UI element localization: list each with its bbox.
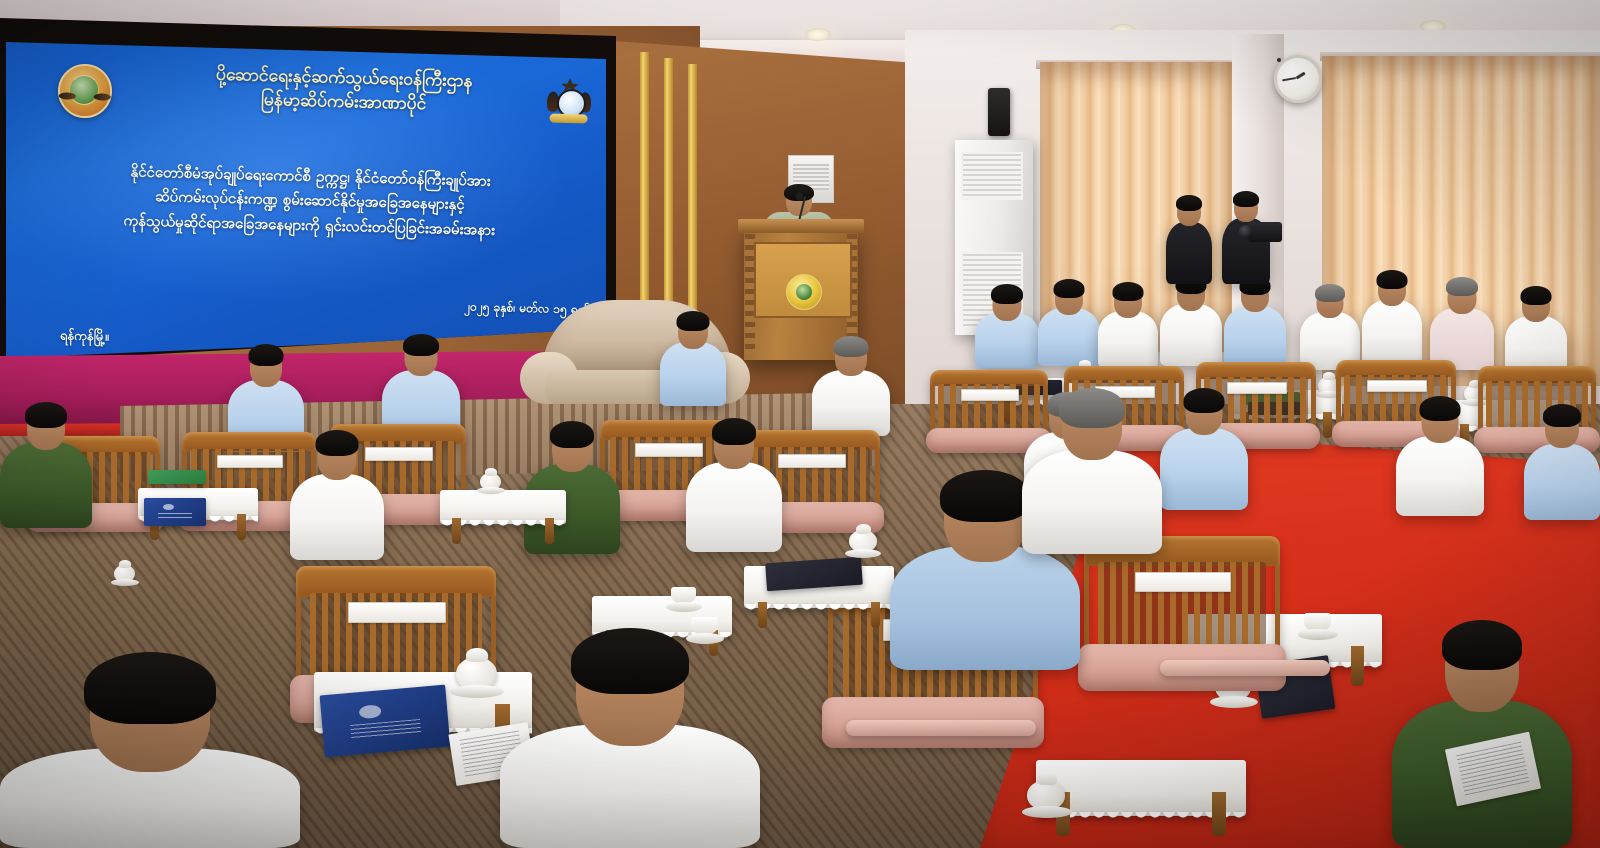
microphone-icon (796, 192, 803, 201)
chair-name-card (778, 454, 846, 468)
teacup-icon (668, 584, 700, 610)
podium-top (738, 219, 864, 233)
chair-name-card (348, 602, 446, 622)
wall-clock-icon (1274, 55, 1322, 103)
wooden-armchair (1084, 536, 1280, 674)
slide-body: နိုင်ငံတော်စီမံအုပ်ချုပ်ရေးကောင်စီ ဥက္ကဋ… (35, 157, 585, 244)
chair-name-card (961, 389, 1020, 401)
clock-minute-hand (1282, 77, 1296, 81)
podium-emblem-icon (786, 274, 822, 310)
seated-attendee (1505, 286, 1567, 376)
podium-front-panel (754, 242, 852, 318)
seated-officer-uniform (524, 420, 620, 554)
chair-armrest (1160, 660, 1330, 676)
seated-attendee (1524, 404, 1600, 520)
seated-attendee (1396, 396, 1484, 516)
seated-attendee (1022, 388, 1162, 554)
blue-document-folder (144, 498, 206, 526)
chair-armrest (846, 720, 1036, 736)
seated-attendee (686, 418, 782, 552)
slide-place: ရန်ကုန်မြို့။ (60, 327, 110, 347)
seated-attendee (1038, 278, 1100, 366)
video-camera-icon (1248, 222, 1282, 242)
teacup-icon (1300, 610, 1336, 638)
seated-attendee (1160, 274, 1222, 366)
slide-title: ပို့ဆောင်ရေးနှင့်ဆက်သွယ်ရေးဝန်ကြီးဌာန မြ… (133, 61, 554, 120)
seated-attendee (1098, 282, 1158, 368)
teapot-icon (452, 648, 502, 694)
seated-attendee (975, 282, 1039, 368)
seated-attendee (1430, 276, 1494, 370)
chair-name-card (1135, 572, 1231, 592)
seated-attendee (812, 336, 890, 436)
teapot-icon (846, 524, 880, 554)
seated-attendee (660, 310, 726, 406)
downlight-icon (805, 28, 831, 41)
seated-attendee (500, 628, 760, 848)
chair-name-card (1367, 380, 1427, 392)
security-officer (1166, 196, 1212, 284)
seated-officer-uniform (0, 400, 92, 528)
ministry-emblem-icon (57, 63, 112, 118)
green-booklet (148, 470, 206, 484)
seated-officer-uniform (1392, 620, 1572, 848)
wall-speaker-icon (988, 88, 1010, 136)
seated-attendee (1362, 270, 1422, 366)
blue-document-folder (320, 685, 451, 758)
teapot-icon (1024, 772, 1070, 814)
projection-screen: ပို့ဆောင်ရေးနှင့်ဆက်သွယ်ရေးဝန်ကြီးဌာန မြ… (6, 42, 606, 358)
teapot-icon (478, 468, 504, 492)
ac-upper-grille (961, 152, 1023, 200)
side-table (440, 490, 566, 524)
seated-attendee (1160, 388, 1248, 510)
seated-attendee (1224, 276, 1286, 366)
chair-name-card (217, 455, 283, 468)
teapot-icon (112, 560, 138, 584)
seated-attendee (290, 430, 384, 560)
clock-hour-hand (1295, 72, 1305, 79)
clock-center-pin (1277, 58, 1281, 62)
seated-attendee (1300, 284, 1360, 370)
seated-attendee (0, 652, 300, 848)
conference-hall-photo: ပို့ဆောင်ရေးနှင့်ဆက်သွယ်ရေးဝန်ကြီးဌာန မြ… (0, 0, 1600, 848)
